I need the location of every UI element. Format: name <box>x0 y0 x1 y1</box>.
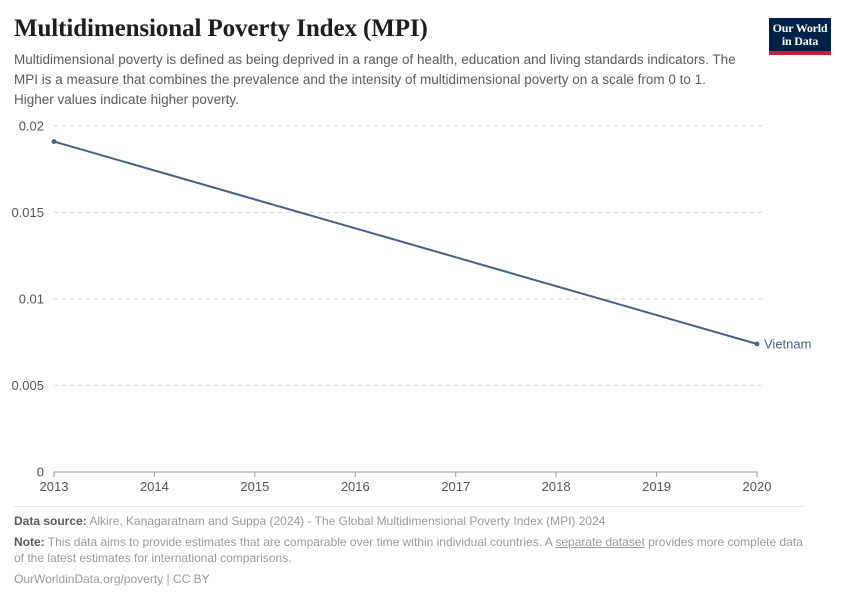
y-tick-label: 0.01 <box>19 292 44 307</box>
y-tick-label: 0.015 <box>11 205 44 220</box>
x-axis <box>54 472 757 477</box>
y-axis-tick-labels: 00.0050.010.0150.02 <box>11 119 44 480</box>
series-name-label[interactable]: Vietnam <box>764 336 811 351</box>
series-data-point[interactable] <box>755 342 760 347</box>
chart-svg: 00.0050.010.0150.02 20132014201520162017… <box>0 112 850 502</box>
x-tick-label: 2019 <box>642 479 671 494</box>
x-tick-label: 2016 <box>341 479 370 494</box>
chart-footer: Data source: Alkire, Kanagaratnam and Su… <box>14 506 804 587</box>
footer-divider <box>14 506 804 507</box>
x-axis-tick-labels: 20132014201520162017201820192020 <box>40 479 772 494</box>
data-source-label: Data source: <box>14 514 87 528</box>
y-tick-label: 0.02 <box>19 119 44 134</box>
note-label: Note: <box>14 535 45 549</box>
x-tick-label: 2018 <box>542 479 571 494</box>
x-tick-label: 2017 <box>441 479 470 494</box>
series-line-vietnam[interactable] <box>54 142 757 344</box>
chart-header: Multidimensional Poverty Index (MPI) Mul… <box>14 0 836 110</box>
note-text-before: This data aims to provide estimates that… <box>45 535 556 549</box>
our-world-in-data-logo[interactable]: Our World in Data <box>769 18 831 55</box>
separate-dataset-link[interactable]: separate dataset <box>555 535 644 549</box>
owid-chart-page: Multidimensional Poverty Index (MPI) Mul… <box>0 0 850 600</box>
y-tick-label: 0.005 <box>11 378 44 393</box>
line-chart[interactable]: 00.0050.010.0150.02 20132014201520162017… <box>0 112 850 502</box>
license-text: OurWorldinData.org/poverty | CC BY <box>14 572 210 586</box>
y-tick-label: 0 <box>37 465 44 480</box>
license-row[interactable]: OurWorldinData.org/poverty | CC BY <box>14 571 804 587</box>
chart-subtitle: Multidimensional poverty is defined as b… <box>14 50 744 110</box>
x-tick-label: 2013 <box>40 479 69 494</box>
note-row: Note: This data aims to provide estimate… <box>14 534 804 566</box>
data-source-row: Data source: Alkire, Kanagaratnam and Su… <box>14 513 804 529</box>
series-end-label[interactable]: Vietnam <box>764 336 811 351</box>
x-tick-label: 2014 <box>140 479 169 494</box>
series-data-point[interactable] <box>52 139 57 144</box>
x-tick-label: 2015 <box>240 479 269 494</box>
logo-line-2: in Data <box>771 35 829 48</box>
gridlines <box>54 126 765 386</box>
data-source-text: Alkire, Kanagaratnam and Suppa (2024) - … <box>87 514 606 528</box>
data-series[interactable] <box>52 139 760 346</box>
page-title: Multidimensional Poverty Index (MPI) <box>14 14 836 44</box>
x-tick-label: 2020 <box>743 479 772 494</box>
